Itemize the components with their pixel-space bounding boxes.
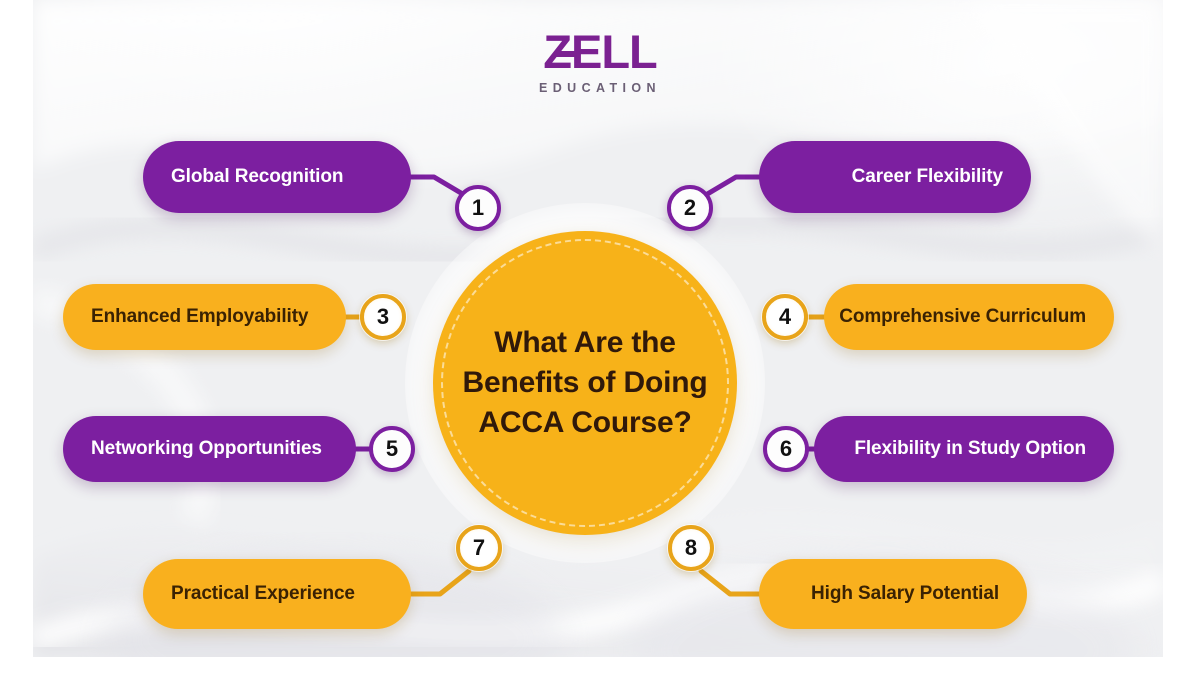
benefit-number-2: 2 [684,195,696,221]
benefit-pill-1[interactable]: Global Recognition [143,141,411,213]
benefit-node-4[interactable]: 4 [762,294,808,340]
benefit-pill-7[interactable]: Practical Experience [143,559,411,629]
hub-title: What Are the Benefits of Doing ACCA Cour… [445,323,726,443]
benefit-label-5: Networking Opportunities [63,438,356,460]
infographic-canvas: ZELL EDUCATION What Are the Benefits of … [0,0,1200,675]
benefit-pill-4[interactable]: Comprehensive Curriculum [824,284,1114,350]
benefit-label-6: Flexibility in Study Option [814,438,1114,460]
logo-tagline: EDUCATION [539,82,661,95]
benefit-number-6: 6 [780,436,792,462]
benefit-node-5[interactable]: 5 [369,426,415,472]
benefit-node-2[interactable]: 2 [667,185,713,231]
logo-e-bar-icon [556,51,576,57]
benefit-pill-5[interactable]: Networking Opportunities [63,416,356,482]
benefit-number-3: 3 [377,304,389,330]
benefit-number-7: 7 [473,535,485,561]
benefit-pill-8[interactable]: High Salary Potential [759,559,1027,629]
benefit-node-3[interactable]: 3 [360,294,406,340]
benefit-label-7: Practical Experience [143,583,411,605]
benefit-node-6[interactable]: 6 [763,426,809,472]
benefit-label-3: Enhanced Employability [63,306,346,328]
brand-logo: ZELL EDUCATION [539,28,661,95]
benefit-label-4: Comprehensive Curriculum [824,306,1114,328]
benefit-label-8: High Salary Potential [759,583,1027,605]
benefit-node-1[interactable]: 1 [455,185,501,231]
benefit-number-1: 1 [472,195,484,221]
benefit-number-4: 4 [779,304,791,330]
hub-circle: What Are the Benefits of Doing ACCA Cour… [433,231,737,535]
benefit-node-7[interactable]: 7 [456,525,502,571]
logo-wordmark: ZELL [543,28,656,75]
benefit-number-5: 5 [386,436,398,462]
benefit-number-8: 8 [685,535,697,561]
benefit-pill-3[interactable]: Enhanced Employability [63,284,346,350]
benefit-pill-2[interactable]: Career Flexibility [759,141,1031,213]
benefit-pill-6[interactable]: Flexibility in Study Option [814,416,1114,482]
benefit-node-8[interactable]: 8 [668,525,714,571]
benefit-label-2: Career Flexibility [759,166,1031,188]
benefit-label-1: Global Recognition [143,166,411,188]
